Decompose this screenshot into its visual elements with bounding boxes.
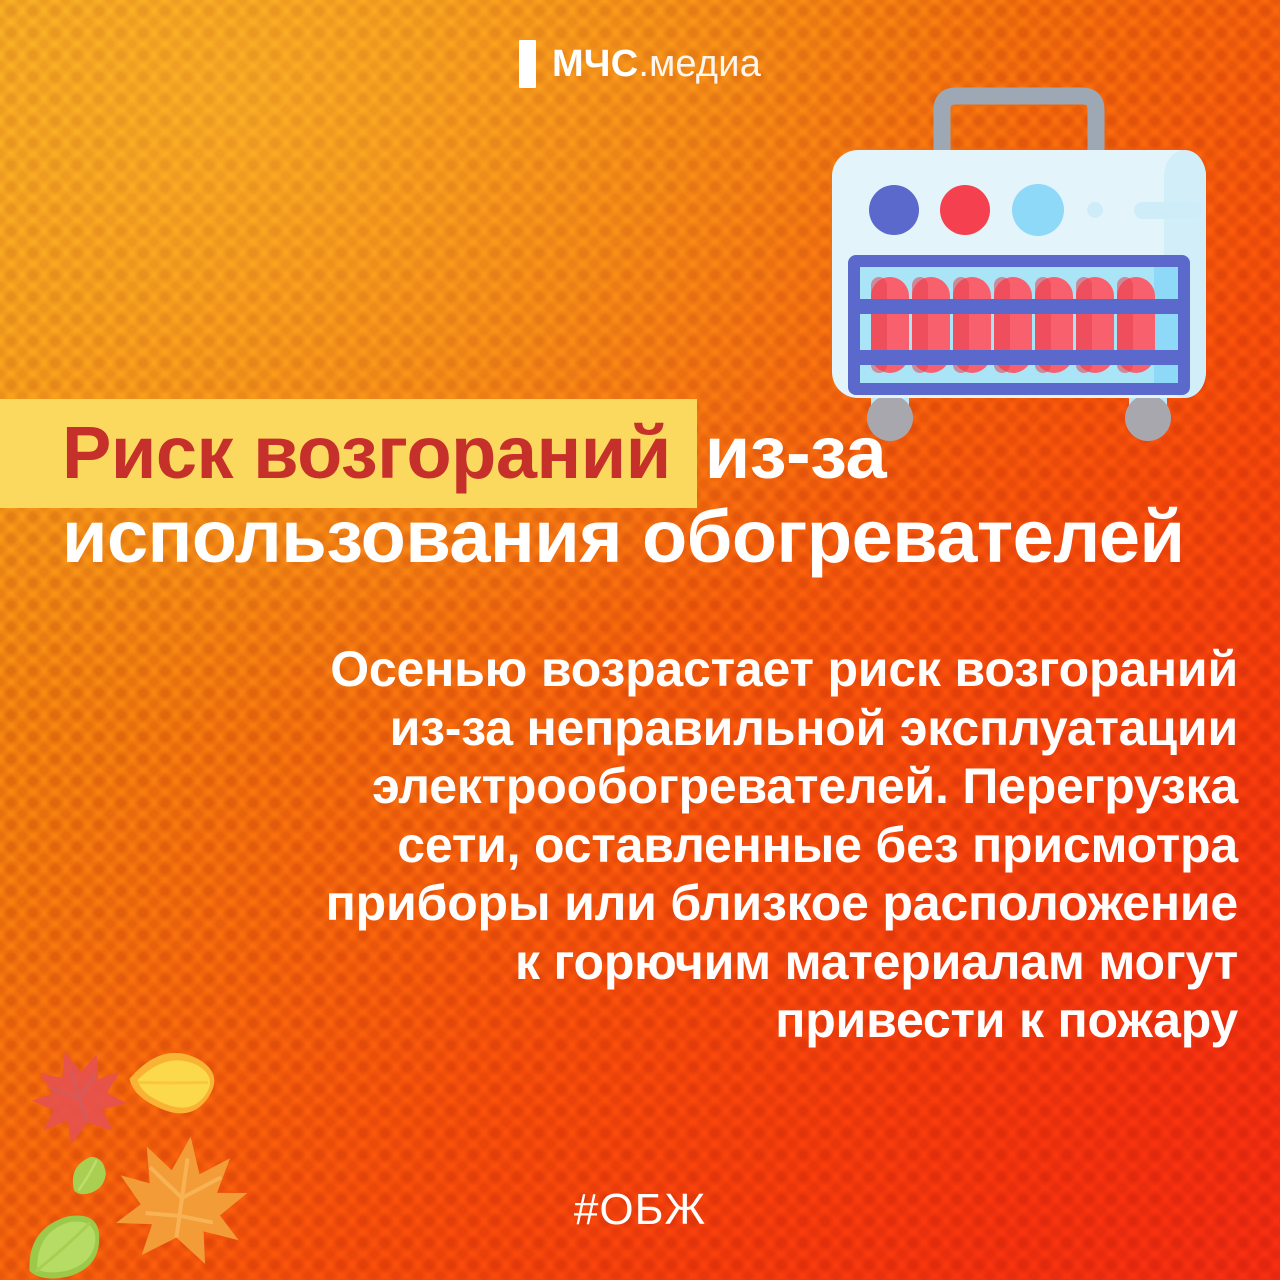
logo-wordmark: МЧС.медиа: [552, 45, 761, 83]
grille-bar-bottom: [860, 350, 1178, 365]
headline-line-2: использования обогревателей: [0, 498, 1280, 576]
grille-panel-shade: [1154, 267, 1178, 383]
headline-line-1: Риск возгоранийиз-за: [0, 414, 1280, 492]
poster-canvas: МЧС.медиа: [0, 0, 1280, 1280]
autumn-leaves-decoration: [18, 1040, 258, 1280]
logo-bar-icon: [519, 40, 536, 88]
body-copy-block: Осенью возрастает риск возгораний из-за …: [128, 640, 1238, 1050]
body-line: привести к пожару: [128, 991, 1238, 1050]
maple-leaf-red: [21, 1040, 136, 1152]
knob-heat: [940, 185, 990, 235]
oval-leaf-yellow: [124, 1040, 222, 1124]
headline-block: Риск возгоранийиз-за использования обогр…: [0, 414, 1280, 577]
grille-bar-top: [860, 299, 1178, 314]
body-line: к горючим материалам могут: [128, 933, 1238, 992]
body-line: электрообогревателей. Перегрузка: [128, 757, 1238, 816]
knob-fan: [1012, 184, 1064, 236]
logo-name-strong: МЧС: [552, 43, 638, 85]
heater-handle-icon: [942, 96, 1096, 158]
body-line: сети, оставленные без присмотра: [128, 816, 1238, 875]
body-line: приборы или близкое расположение: [128, 874, 1238, 933]
knob-power: [869, 185, 919, 235]
headline-line-1-rest: из-за: [705, 411, 886, 494]
indicator-bar: [1134, 202, 1202, 219]
body-line: из-за неправильной эксплуатации: [128, 699, 1238, 758]
logo-name-light: .медиа: [638, 43, 761, 85]
body-line: Осенью возрастает риск возгораний: [128, 640, 1238, 699]
headline-highlight: Риск возгораний: [62, 399, 671, 508]
indicator-dot: [1087, 202, 1103, 218]
brand-logo: МЧС.медиа: [0, 40, 1280, 88]
electric-heater-illustration: [824, 62, 1214, 452]
hashtag-label: #ОБЖ: [0, 1185, 1280, 1235]
